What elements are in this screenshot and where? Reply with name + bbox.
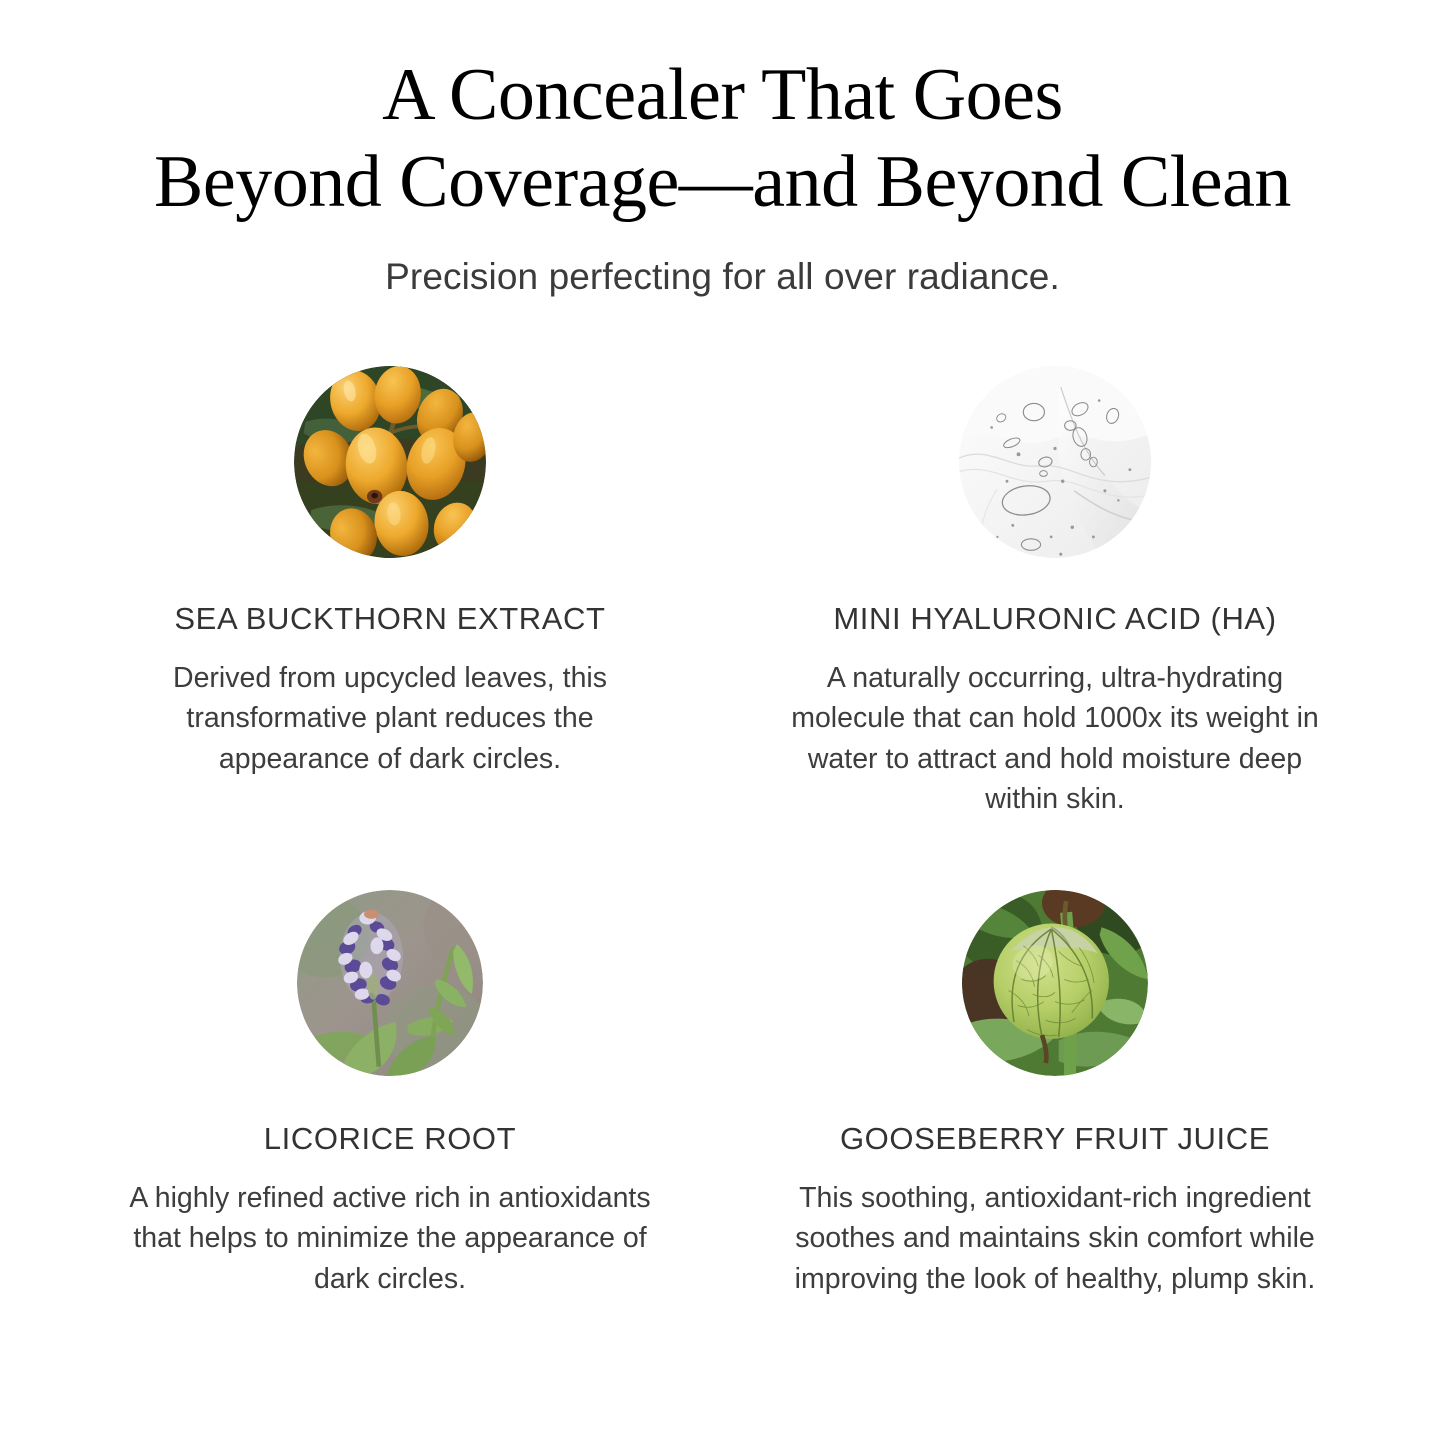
ingredient-title: LICORICE ROOT — [264, 1122, 516, 1156]
hyaluronic-acid-gel-texture-photo — [959, 366, 1151, 558]
headline-line-2: Beyond Coverage—and Beyond Clean — [98, 139, 1348, 226]
licorice-root-flower-photo — [297, 890, 483, 1076]
ingredient-card-gooseberry: GOOSEBERRY FRUIT JUICE This soothing, an… — [723, 890, 1388, 1300]
ingredient-card-hyaluronic-acid: MINI HYALURONIC ACID (HA) A naturally oc… — [723, 366, 1388, 820]
ingredient-grid: SEA BUCKTHORN EXTRACT Derived from upcyc… — [58, 366, 1388, 1299]
ingredient-description: A naturally occurring, ultra-hydrating m… — [790, 658, 1320, 820]
ingredient-benefits-infographic: A Concealer That Goes Beyond Coverage—an… — [0, 0, 1445, 1445]
ingredient-description: This soothing, antioxidant-rich ingredie… — [790, 1178, 1320, 1299]
ingredient-description: A highly refined active rich in antioxid… — [125, 1178, 655, 1299]
ingredient-title: GOOSEBERRY FRUIT JUICE — [840, 1122, 1270, 1156]
sea-buckthorn-berries-photo — [294, 366, 486, 558]
page-title: A Concealer That Goes Beyond Coverage—an… — [98, 52, 1348, 225]
ingredient-card-sea-buckthorn: SEA BUCKTHORN EXTRACT Derived from upcyc… — [58, 366, 723, 820]
ingredient-card-licorice-root: LICORICE ROOT A highly refined active ri… — [58, 890, 723, 1300]
headline-line-1: A Concealer That Goes — [98, 52, 1348, 139]
ingredient-description: Derived from upcycled leaves, this trans… — [125, 658, 655, 779]
gooseberry-fruit-husk-photo — [962, 890, 1148, 1076]
ingredient-title: MINI HYALURONIC ACID (HA) — [833, 602, 1276, 636]
header: A Concealer That Goes Beyond Coverage—an… — [0, 0, 1445, 300]
page-subtitle: Precision perfecting for all over radian… — [0, 255, 1445, 299]
ingredient-title: SEA BUCKTHORN EXTRACT — [174, 602, 605, 636]
